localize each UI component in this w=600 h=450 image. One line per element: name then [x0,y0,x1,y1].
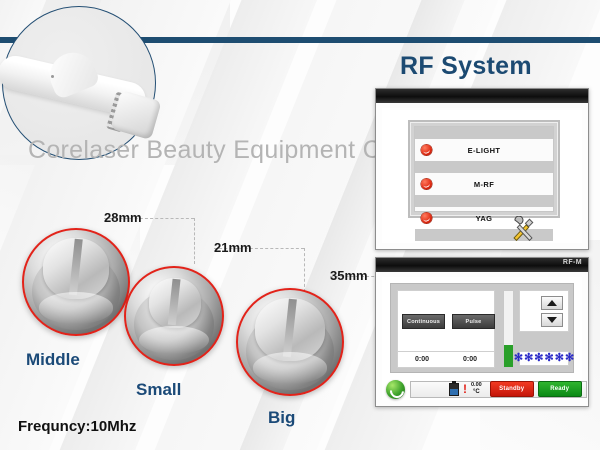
status-strip: ! 0.00 °C Standby Ready [410,381,587,398]
asterisk-icon: ✻ [555,354,564,363]
triangle-down-icon [547,317,557,323]
handpiece-indicator-dot [51,75,54,78]
tip-name-2: Big [268,408,295,428]
pulse-indicator-row: ✻ ✻ ✻ ✻ ✻ ✻ [519,351,569,366]
tip-name-1: Small [136,380,181,400]
tip-knob-middle [22,228,130,336]
menu-divider [415,161,553,173]
wrench-screwdriver-icon[interactable] [510,216,536,242]
menu-item-label: M-RF [415,180,553,189]
device-model-label: RF-M [563,259,582,266]
tip-knob-big [236,288,344,396]
alert-exclamation-icon: ! [463,384,467,395]
menu-item-elight[interactable]: E-LIGHT [415,139,553,161]
tip-size-1: 21mm [214,240,252,255]
mode-button-continuous[interactable]: Continuous [402,314,445,329]
device-screen-top-body: E-LIGHT M-RF YAG [382,108,582,243]
energy-readout: 5 J/CM² [519,290,569,332]
timer-value-0: 0:00 [398,356,446,363]
control-area: Continuous Pulse 0:00 0:00 5 J/CM² [390,283,574,373]
red-power-icon [421,145,432,156]
dimension-guide [194,218,195,264]
menu-divider [415,127,553,139]
timer-row: 0:00 0:00 [398,351,494,367]
energy-increase-button[interactable] [541,296,563,310]
asterisk-icon: ✻ [545,354,554,363]
tip-size-2: 35mm [330,268,368,283]
triangle-up-icon [547,300,557,306]
asterisk-icon: ✻ [524,354,533,363]
temperature-unit: °C [473,389,480,395]
device-titlebar-bottom: RF-M [376,258,588,272]
mode-menu-frame: E-LIGHT M-RF YAG [408,120,560,218]
tip-size-0: 28mm [104,210,142,225]
asterisk-icon: ✻ [565,354,574,363]
red-power-icon [421,179,432,190]
tip-knob-small [124,266,224,366]
device-screen-bottom-body: Continuous Pulse 0:00 0:00 5 J/CM² [382,277,582,400]
red-power-icon [421,213,432,224]
ready-button[interactable]: Ready [538,381,582,397]
asterisk-icon: ✻ [534,354,543,363]
frequency-label: Frequncy:10Mhz [18,418,136,435]
refresh-icon[interactable] [386,380,405,399]
page-title: RF System [400,52,580,81]
mode-button-pulse[interactable]: Pulse [452,314,495,329]
device-screen-bottom: RF-M Continuous Pulse 0:00 0:00 [375,257,589,407]
mode-panel: Continuous Pulse 0:00 0:00 [397,290,495,368]
screenshot-root: Corelaser Beauty Equipment Co., Ltd. 28m… [0,0,600,450]
energy-control-area: 5 J/CM² ✻ ✻ ✻ ✻ ✻ [519,290,567,366]
menu-item-label: E-LIGHT [415,146,553,155]
timer-value-1: 0:00 [446,356,494,363]
battery-icon [449,383,459,396]
temperature-readout: 0.00 °C [471,383,482,395]
tip-name-0: Middle [26,350,80,370]
asterisk-icon: ✻ [514,354,523,363]
dimension-guide [304,248,305,292]
mode-menu-list: E-LIGHT M-RF YAG [414,126,554,212]
standby-button[interactable]: Standby [490,381,534,397]
menu-divider [415,195,553,207]
mode-button-group: Continuous Pulse [402,314,495,329]
energy-level-slider[interactable] [503,290,514,368]
energy-decrease-button[interactable] [541,313,563,327]
device-titlebar-top [376,89,588,103]
status-footer: ! 0.00 °C Standby Ready [386,377,576,401]
menu-item-mrf[interactable]: M-RF [415,173,553,195]
device-screen-top: E-LIGHT M-RF YAG [375,88,589,250]
energy-level-fill [504,345,513,367]
